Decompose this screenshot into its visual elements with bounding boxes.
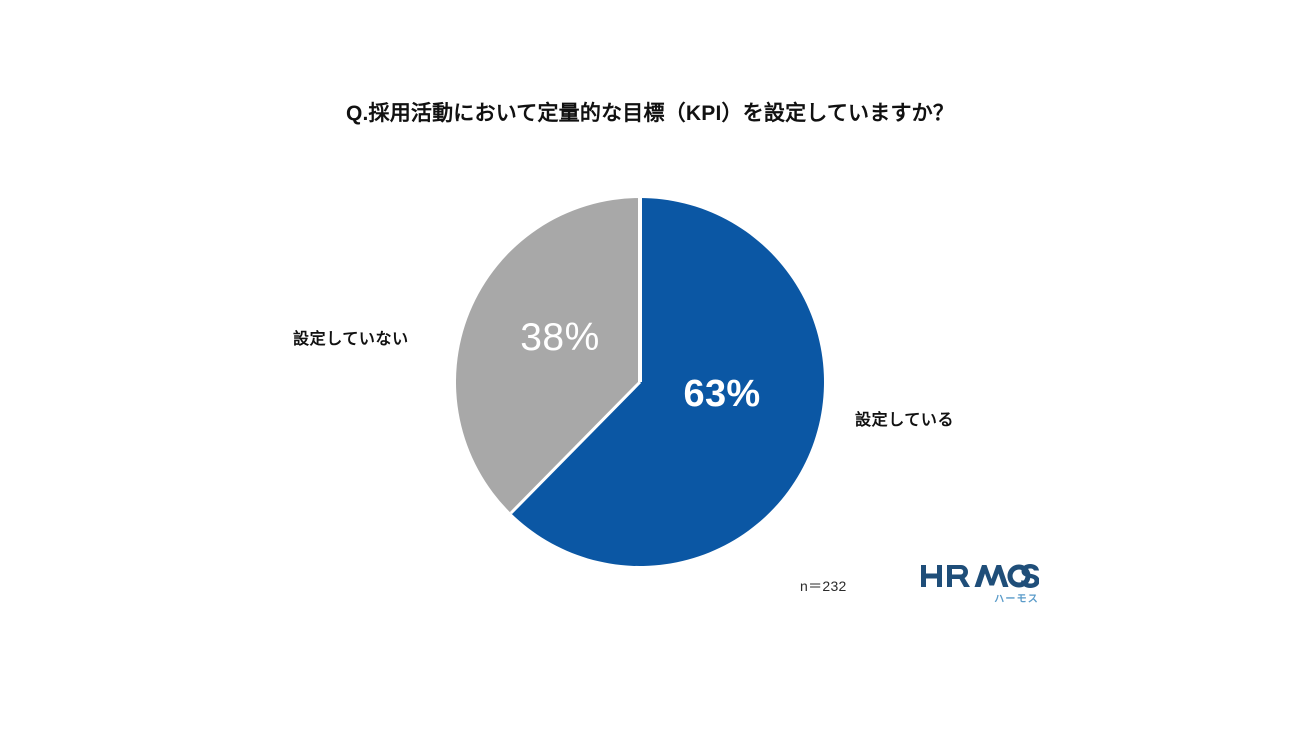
hrmos-logo-subtitle: ハーモス <box>994 590 1039 605</box>
hrmos-wordmark-icon <box>921 563 1039 589</box>
pie-category-label-primary: 設定している <box>855 406 954 430</box>
pie-value-label-primary: 63% <box>657 373 787 416</box>
page-title: Q.採用活動において定量的な目標（KPI）を設定していますか？ <box>0 100 1300 127</box>
pie-value-label-secondary: 38% <box>495 316 625 360</box>
chart-canvas: Q.採用活動において定量的な目標（KPI）を設定していますか？ 38% 63% … <box>0 0 1300 731</box>
sample-size-annotation: n＝232 <box>800 576 847 596</box>
hrmos-logo: ハーモス <box>921 563 1039 607</box>
pie-category-label-secondary: 設定していない <box>293 325 409 349</box>
